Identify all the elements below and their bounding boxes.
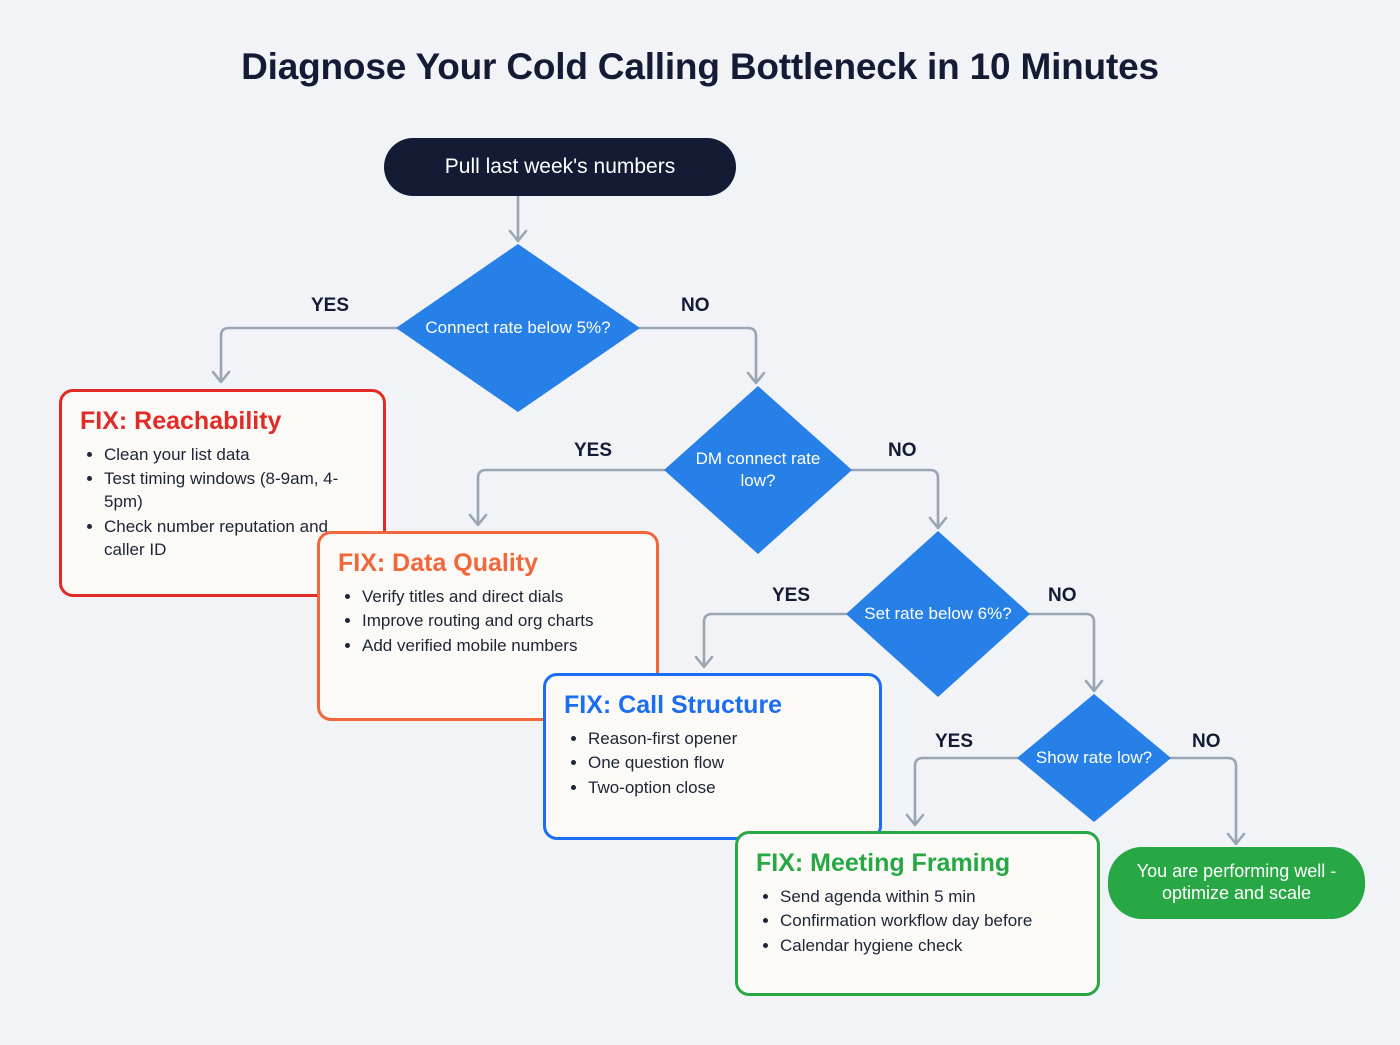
connector-d4-yes-to-meeting-framing <box>907 758 1017 825</box>
fix-box-call-structure[interactable]: FIX: Call Structure Reason-first opener … <box>543 673 882 840</box>
list-item: Reason-first opener <box>588 728 859 751</box>
connector-d1-no-to-d2 <box>640 328 764 383</box>
decision-set-rate-label: Set rate below 6%? <box>846 531 1030 697</box>
decision-dm-connect-rate[interactable]: DM connect rate low? <box>664 386 852 554</box>
flowchart-canvas: Diagnose Your Cold Calling Bottleneck in… <box>0 0 1400 1045</box>
fix-box-data-quality-title: FIX: Data Quality <box>338 550 636 578</box>
connector-d4-no-to-end <box>1171 758 1244 844</box>
connector-start-to-d1 <box>510 194 526 241</box>
decision-dm-connect-rate-label: DM connect rate low? <box>664 386 852 554</box>
branch-label-d4-no: NO <box>1192 731 1221 753</box>
connector-d3-yes-to-call-structure <box>696 614 846 667</box>
list-item: Improve routing and org charts <box>362 610 636 633</box>
branch-label-d3-no: NO <box>1048 585 1077 607</box>
branch-label-d1-no: NO <box>681 295 710 317</box>
branch-label-d2-yes: YES <box>574 440 612 462</box>
branch-label-d1-yes: YES <box>311 295 349 317</box>
fix-box-data-quality-list: Verify titles and direct dials Improve r… <box>338 586 636 659</box>
list-item: Verify titles and direct dials <box>362 586 636 609</box>
list-item: One question flow <box>588 752 859 775</box>
fix-box-meeting-framing-list: Send agenda within 5 min Confirmation wo… <box>756 886 1077 959</box>
list-item: Send agenda within 5 min <box>780 886 1077 909</box>
decision-show-rate-label: Show rate low? <box>1017 694 1171 822</box>
decision-connect-rate[interactable]: Connect rate below 5%? <box>396 244 640 412</box>
end-node[interactable]: You are performing well - optimize and s… <box>1108 847 1365 919</box>
decision-set-rate[interactable]: Set rate below 6%? <box>846 531 1030 697</box>
decision-show-rate[interactable]: Show rate low? <box>1017 694 1171 822</box>
list-item: Confirmation workflow day before <box>780 910 1077 933</box>
branch-label-d4-yes: YES <box>935 731 973 753</box>
list-item: Test timing windows (8-9am, 4-5pm) <box>104 468 363 514</box>
list-item: Two-option close <box>588 777 859 800</box>
list-item: Calendar hygiene check <box>780 935 1077 958</box>
branch-label-d3-yes: YES <box>772 585 810 607</box>
fix-box-meeting-framing[interactable]: FIX: Meeting Framing Send agenda within … <box>735 831 1100 996</box>
connector-d3-no-to-d4 <box>1030 614 1102 691</box>
list-item: Add verified mobile numbers <box>362 635 636 658</box>
decision-connect-rate-label: Connect rate below 5%? <box>396 244 640 412</box>
fix-box-call-structure-list: Reason-first opener One question flow Tw… <box>564 728 859 801</box>
connector-d1-yes-to-reachability <box>213 328 396 382</box>
list-item: Clean your list data <box>104 444 363 467</box>
page-title: Diagnose Your Cold Calling Bottleneck in… <box>0 46 1400 88</box>
start-node[interactable]: Pull last week's numbers <box>384 138 736 196</box>
fix-box-meeting-framing-title: FIX: Meeting Framing <box>756 850 1077 878</box>
connector-d2-no-to-d3 <box>852 470 946 528</box>
fix-box-call-structure-title: FIX: Call Structure <box>564 692 859 720</box>
fix-box-reachability-title: FIX: Reachability <box>80 408 363 436</box>
connector-d2-yes-to-data-quality <box>470 470 664 525</box>
branch-label-d2-no: NO <box>888 440 917 462</box>
